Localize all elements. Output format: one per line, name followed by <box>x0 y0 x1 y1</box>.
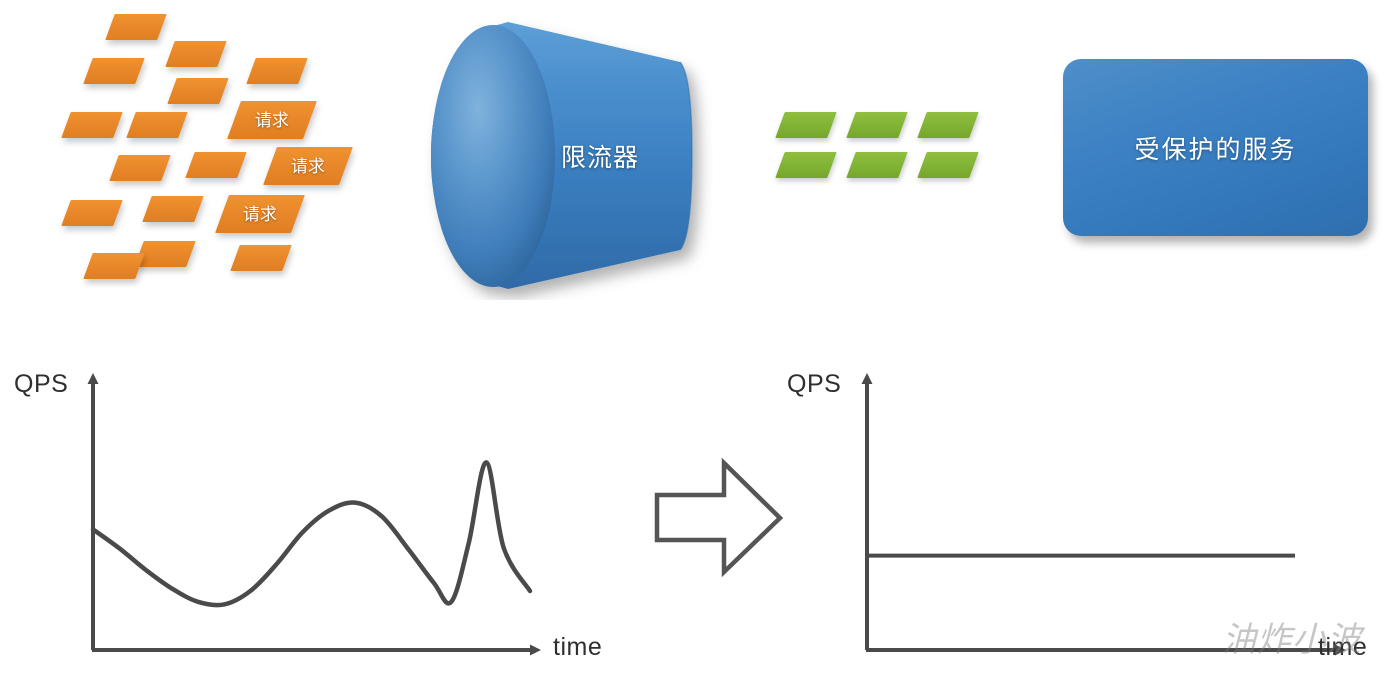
request-shape-label: 请求 <box>291 158 325 175</box>
request-shape <box>83 253 144 279</box>
passed-request-shape <box>775 152 836 178</box>
request-shape <box>105 14 166 40</box>
request-shape <box>185 152 246 178</box>
protected-service-box[interactable]: 受保护的服务 <box>1063 59 1368 236</box>
request-shape-labeled: 请求 <box>227 101 317 139</box>
request-shape-label: 请求 <box>243 206 277 223</box>
passed-request-shape <box>775 112 836 138</box>
request-shape <box>167 78 228 104</box>
passed-request-shape <box>917 152 978 178</box>
chart-after-xlabel: time <box>1318 633 1367 662</box>
protected-service-label: 受保护的服务 <box>1134 130 1296 166</box>
chart-before <box>92 382 532 650</box>
request-shape <box>230 245 291 271</box>
passed-request-shape <box>846 152 907 178</box>
rate-limiter-funnel <box>383 0 713 300</box>
request-shape <box>165 41 226 67</box>
transition-arrow-icon <box>657 463 780 572</box>
request-shape-labeled: 请求 <box>263 147 353 185</box>
request-shape <box>61 200 122 226</box>
chart-before-xlabel: time <box>553 633 602 662</box>
request-shape-labeled: 请求 <box>215 195 305 233</box>
request-shape <box>109 155 170 181</box>
chart-before-ylabel: QPS <box>14 370 68 399</box>
request-shape <box>142 196 203 222</box>
chart-after-ylabel: QPS <box>787 370 841 399</box>
request-shape <box>61 112 122 138</box>
chart-after <box>866 382 1337 650</box>
passed-request-shape <box>917 112 978 138</box>
request-shape <box>246 58 307 84</box>
request-shape <box>83 58 144 84</box>
chart-before-series-line <box>93 462 530 605</box>
diagram-canvas: 请求请求请求 <box>0 0 1400 683</box>
request-shape <box>126 112 187 138</box>
request-shape-label: 请求 <box>255 112 289 129</box>
passed-request-shape <box>846 112 907 138</box>
